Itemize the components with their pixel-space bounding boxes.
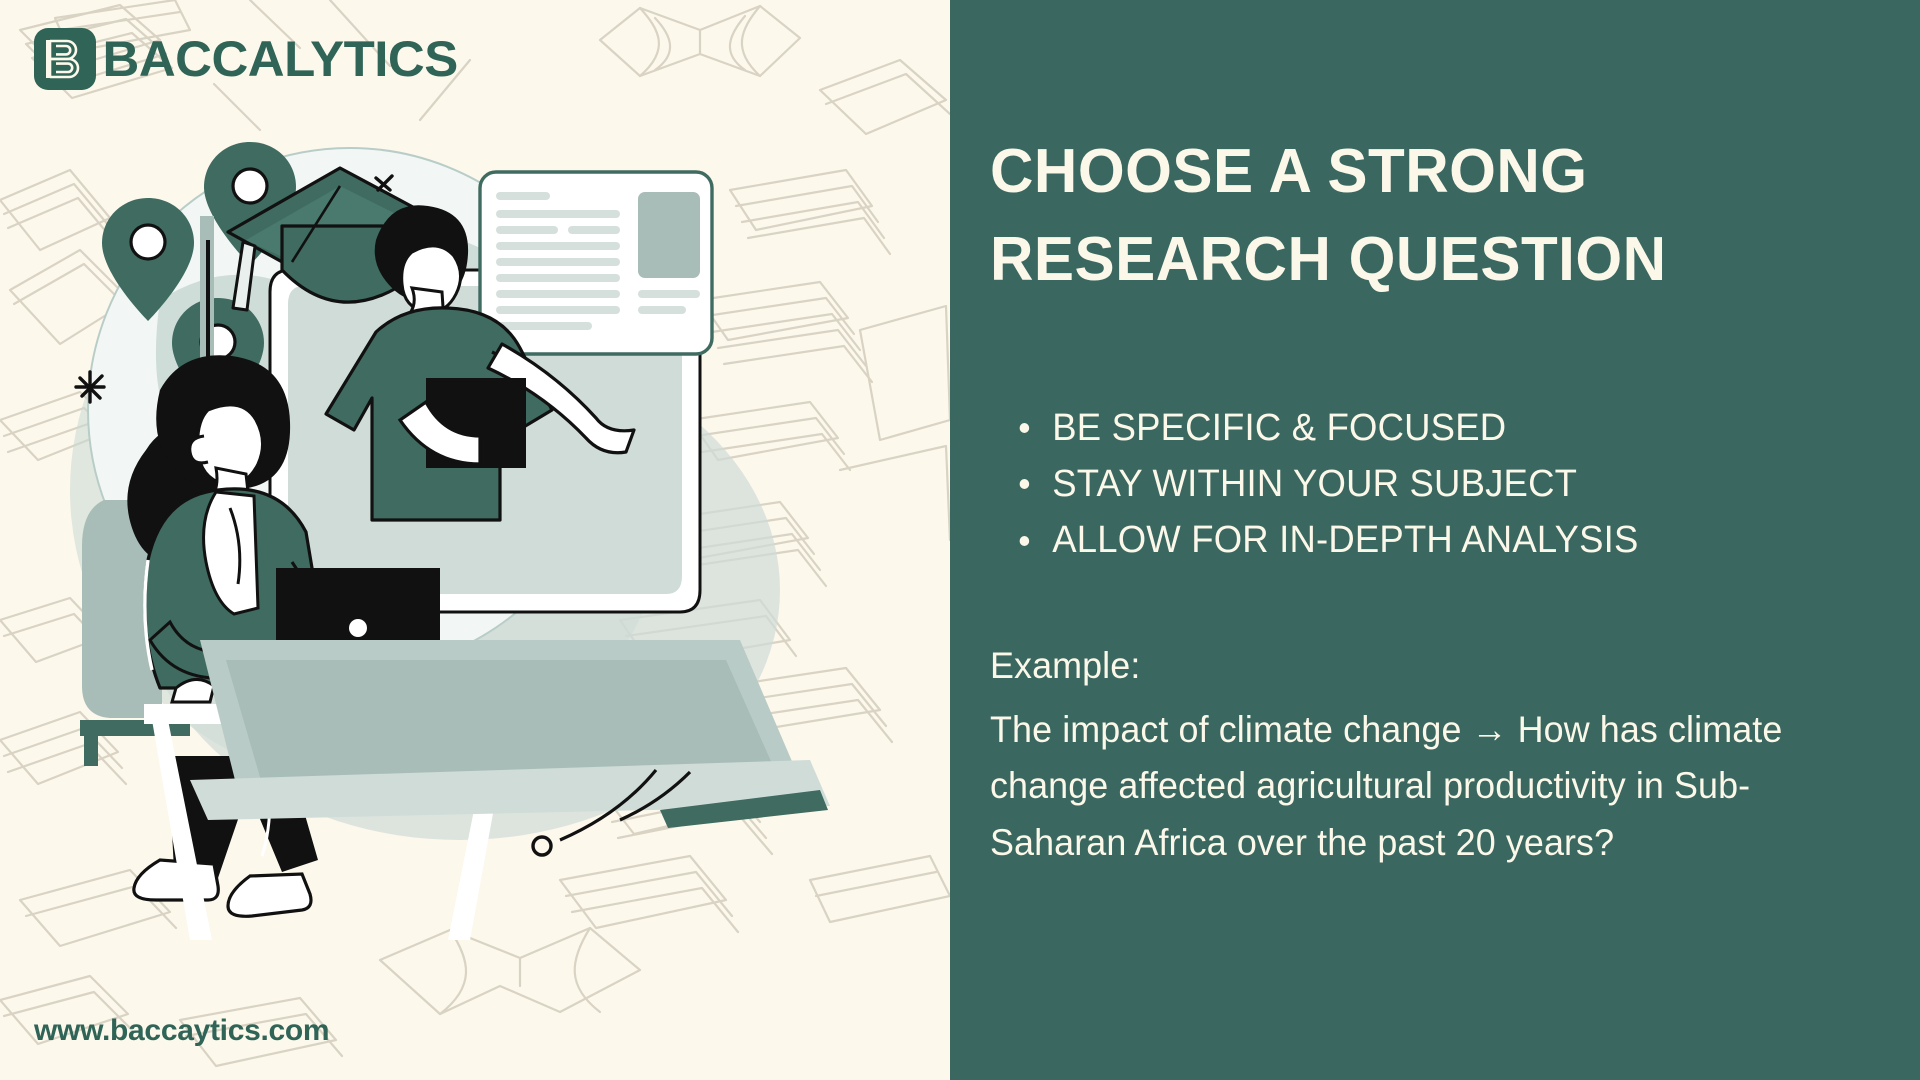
list-item: STAY WITHIN YOUR SUBJECT [1010,456,1855,512]
headline-line-2: RESEARCH QUESTION [990,216,1853,304]
tips-bullet-list: BE SPECIFIC & FOCUSED STAY WITHIN YOUR S… [1010,400,1890,569]
page-title: CHOOSE A STRONG RESEARCH QUESTION [990,128,1853,304]
logo-wordmark: BACCALYTICS [103,34,458,84]
bullet-label: BE SPECIFIC & FOCUSED [1052,407,1506,449]
example-text: The impact of climate change → How has c… [990,702,1853,871]
list-item: ALLOW FOR IN-DEPTH ANALYSIS [1010,512,1855,568]
sparkle-icon [76,372,104,402]
document-card [480,172,712,354]
bullet-label: ALLOW FOR IN-DEPTH ANALYSIS [1052,519,1638,561]
left-panel: BACCALYTICS [0,0,950,1080]
students-research-illustration [40,120,920,950]
bullet-dot-icon [1020,479,1030,489]
right-panel: CHOOSE A STRONG RESEARCH QUESTION BE SPE… [950,0,1920,1080]
example-block: Example: The impact of climate change → … [990,638,1853,871]
footer-website-url[interactable]: www.baccaytics.com [34,1014,329,1048]
list-item: BE SPECIFIC & FOCUSED [1010,400,1855,456]
bullet-label: STAY WITHIN YOUR SUBJECT [1052,463,1577,505]
bullet-dot-icon [1020,423,1030,433]
example-label: Example: [990,638,1853,694]
bullet-dot-icon [1020,536,1030,546]
logo-mark-icon [34,28,96,90]
headline-line-1: CHOOSE A STRONG [990,128,1853,216]
brand-logo[interactable]: BACCALYTICS [34,28,454,90]
poster-canvas: BACCALYTICS [0,0,1920,1080]
